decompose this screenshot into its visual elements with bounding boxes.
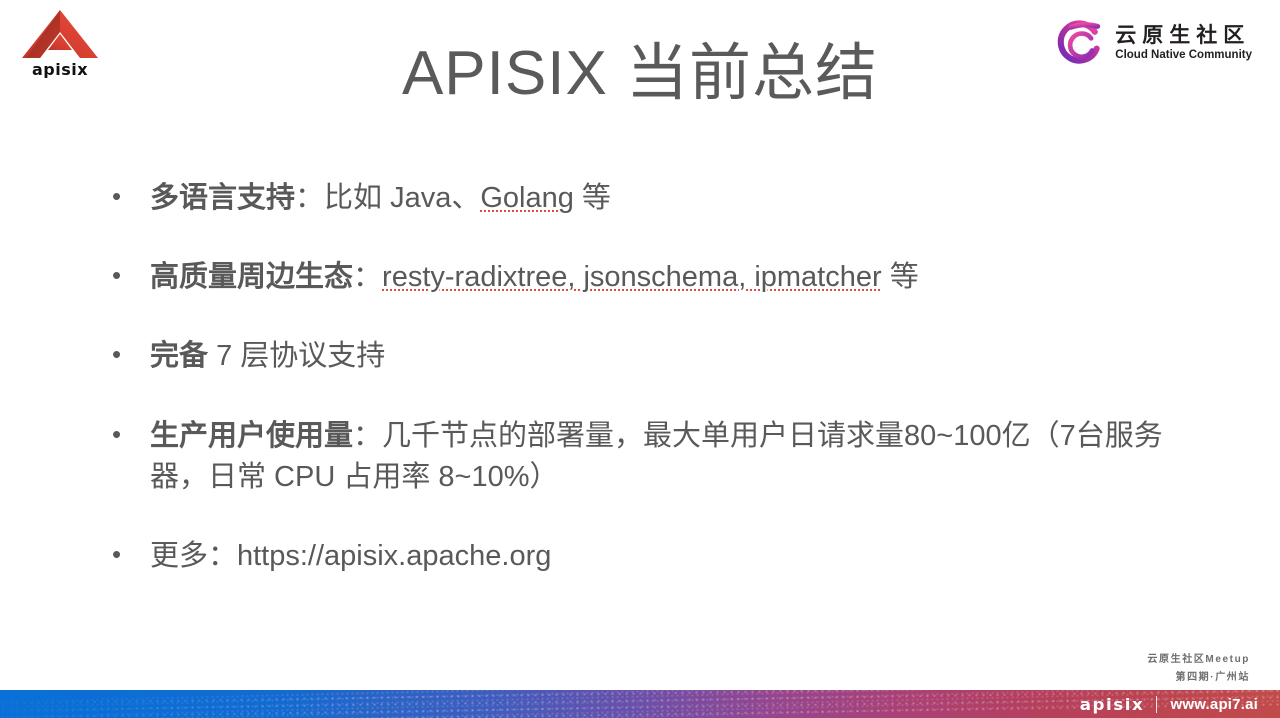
list-item: • 生产用户使用量：几千节点的部署量，最大单用户日请求量80~100亿（7台服务… xyxy=(112,416,1202,498)
list-item: • 更多：https://apisix.apache.org xyxy=(112,536,1202,577)
bullet-marker-icon: • xyxy=(112,416,150,453)
bullet-label: 生产用户使用量 xyxy=(150,420,353,452)
bullet-separator: ： xyxy=(353,420,382,452)
bullet-text: 生产用户使用量：几千节点的部署量，最大单用户日请求量80~100亿（7台服务器，… xyxy=(150,416,1202,498)
bar-url: www.api7.ai xyxy=(1170,696,1258,713)
bullet-text: 完备 7 层协议支持 xyxy=(150,336,1202,377)
bullet-list: • 多语言支持：比如 Java、Golang 等 • 高质量周边生态：resty… xyxy=(112,178,1202,615)
bullet-body-post: 等 xyxy=(882,261,919,293)
bullet-body-pre: 更多：https://apisix.apache.org xyxy=(150,540,551,572)
list-item: • 完备 7 层协议支持 xyxy=(112,336,1202,377)
page-title: APISIX 当前总结 xyxy=(0,22,1280,112)
bottom-bar: apisix www.api7.ai xyxy=(0,690,1280,718)
bullet-separator: ： xyxy=(353,261,382,293)
bullet-misspelled-term: resty-radixtree, jsonschema, ipmatcher xyxy=(382,261,882,293)
bullet-body-pre: 比如 Java、 xyxy=(324,182,480,214)
bullet-body-pre: 7 层协议支持 xyxy=(208,340,385,372)
bullet-marker-icon: • xyxy=(112,536,150,573)
bullet-text: 更多：https://apisix.apache.org xyxy=(150,536,1202,577)
bullet-misspelled-term: Golang xyxy=(480,182,574,214)
bullet-label: 完备 xyxy=(150,340,208,372)
bullet-label: 多语言支持 xyxy=(150,182,295,214)
bar-left-fade xyxy=(0,690,360,718)
bullet-marker-icon: • xyxy=(112,336,150,373)
bar-brand-group: apisix www.api7.ai xyxy=(1081,690,1258,718)
bullet-text: 多语言支持：比如 Java、Golang 等 xyxy=(150,178,1202,219)
meetup-caption-line1: 云原生社区Meetup xyxy=(1147,651,1250,669)
bar-divider xyxy=(1156,696,1157,713)
bullet-label: 高质量周边生态 xyxy=(150,261,353,293)
bullet-separator: ： xyxy=(295,182,324,214)
meetup-caption: 云原生社区Meetup 第四期·广州站 xyxy=(1147,651,1250,686)
list-item: • 多语言支持：比如 Java、Golang 等 xyxy=(112,178,1202,219)
bullet-text: 高质量周边生态：resty-radixtree, jsonschema, ipm… xyxy=(150,257,1202,298)
bar-apisix-wordmark: apisix xyxy=(1080,695,1145,714)
meetup-caption-line2: 第四期·广州站 xyxy=(1147,669,1250,687)
bullet-marker-icon: • xyxy=(112,257,150,294)
bullet-body-post: 等 xyxy=(574,182,611,214)
bullet-marker-icon: • xyxy=(112,178,150,215)
list-item: • 高质量周边生态：resty-radixtree, jsonschema, i… xyxy=(112,257,1202,298)
